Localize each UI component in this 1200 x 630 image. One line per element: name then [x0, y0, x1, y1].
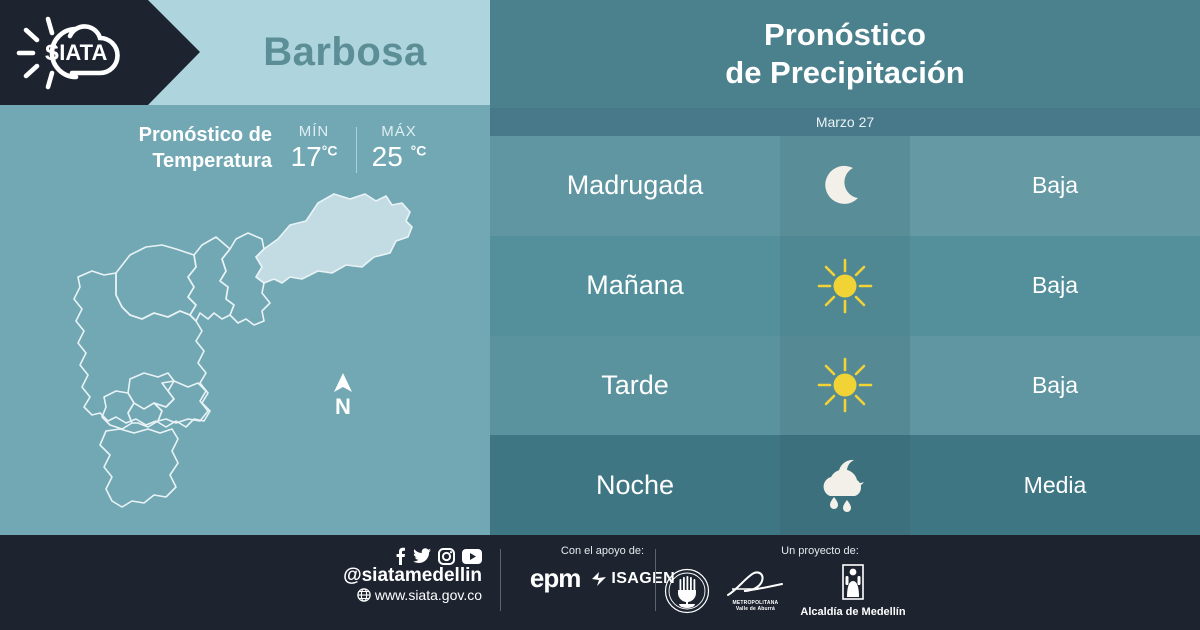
forecast-table: Madrugada Baja Mañana — [490, 136, 1200, 535]
valley-map: N — [50, 183, 450, 528]
precipitation-level: Baja — [910, 336, 1200, 436]
isagen-mark-icon — [590, 571, 608, 587]
temperature-divider — [356, 127, 357, 173]
map-panel: Pronóstico de Temperatura MÍN 17°C MÁX 2… — [0, 105, 490, 535]
map-region-caldas — [100, 429, 178, 507]
left-header: SIATA Barbosa — [0, 0, 490, 105]
forecast-title-line2: de Precipitación — [725, 55, 964, 90]
sun-icon — [816, 356, 874, 414]
forecast-header: Pronóstico de Precipitación — [490, 0, 1200, 108]
amva-logo: METROPOLITANA Valle de Aburrá — [724, 569, 786, 613]
left-panel: SIATA Barbosa Pronóstico de Temperatura … — [0, 0, 490, 535]
epm-logo: epm — [530, 563, 580, 594]
footer: @siatamedellin www.siata.gov.co Con el a… — [0, 535, 1200, 630]
north-label: N — [328, 396, 358, 418]
temperature-title: Pronóstico de Temperatura — [82, 123, 272, 174]
precipitation-level: Baja — [910, 136, 1200, 236]
map-region-copacabana — [188, 237, 234, 321]
city-name: Barbosa — [200, 0, 490, 105]
period-label: Mañana — [490, 236, 780, 336]
udea-seal-icon — [664, 568, 710, 614]
social-icons — [330, 547, 482, 565]
precipitation-panel: Pronóstico de Precipitación Marzo 27 Mad… — [490, 0, 1200, 535]
north-arrow-icon — [332, 373, 354, 393]
temperature-max-label: MÁX — [381, 123, 417, 140]
table-row: Tarde — [490, 336, 1200, 436]
period-label: Madrugada — [490, 136, 780, 236]
precipitation-level: Media — [910, 435, 1200, 535]
website-url: www.siata.gov.co — [375, 587, 482, 603]
alcaldia-mark-icon — [838, 563, 868, 603]
temperature-title-line2: Temperatura — [152, 150, 272, 172]
footer-divider — [500, 549, 501, 611]
temperature-min-label: MÍN — [299, 123, 330, 140]
moon-rain-cloud-icon — [814, 456, 876, 514]
project-caption: Un proyecto de: — [730, 545, 910, 557]
map-region-barbosa — [256, 194, 412, 283]
north-indicator: N — [328, 373, 358, 418]
max-number: 25 — [372, 141, 403, 172]
weather-icon-cell — [780, 136, 910, 236]
max-unit: °C — [411, 143, 427, 159]
amva-caption-2: Valle de Aburrá — [736, 607, 775, 613]
table-row: Madrugada Baja — [490, 136, 1200, 236]
precipitation-level: Baja — [910, 236, 1200, 336]
twitter-icon[interactable] — [413, 548, 431, 564]
globe-icon — [357, 588, 371, 602]
forecast-title-line1: Pronóstico — [764, 17, 926, 52]
social-handle[interactable]: @siatamedellin — [330, 566, 482, 587]
alcaldia-label: Alcaldía de Medellín — [800, 606, 905, 618]
map-region-bello — [116, 245, 196, 319]
temperature-values: MÍN 17°C MÁX 25 °C — [278, 123, 435, 173]
map-region-envigado — [154, 381, 208, 423]
siata-logo-text: SIATA — [45, 40, 108, 65]
footer-divider-2 — [655, 549, 656, 611]
forecast-title: Pronóstico de Precipitación — [725, 16, 964, 92]
siata-logo-banner: SIATA — [0, 0, 200, 105]
alcaldia-logo: Alcaldía de Medellín — [800, 563, 905, 618]
moon-icon — [819, 160, 871, 212]
temperature-title-line1: Pronóstico de — [139, 124, 272, 146]
project-logos: METROPOLITANA Valle de Aburrá Alcaldía d… — [660, 563, 910, 618]
temperature-max-value: 25 °C — [372, 141, 427, 173]
sun-cloud-icon: SIATA — [14, 16, 142, 90]
infographic-root: SIATA Barbosa Pronóstico de Temperatura … — [0, 0, 1200, 630]
period-label: Tarde — [490, 336, 780, 436]
map-svg — [50, 183, 450, 528]
weather-icon-cell — [780, 236, 910, 336]
period-label: Noche — [490, 435, 780, 535]
facebook-icon[interactable] — [395, 547, 406, 565]
sun-icon — [816, 257, 874, 315]
temperature-max: MÁX 25 °C — [363, 123, 435, 173]
amva-mark-icon — [724, 569, 786, 601]
min-number: 17 — [291, 141, 322, 172]
temperature-min: MÍN 17°C — [278, 123, 350, 173]
youtube-icon[interactable] — [462, 549, 482, 564]
instagram-icon[interactable] — [438, 548, 455, 565]
table-row: Noche Media — [490, 435, 1200, 535]
website-row[interactable]: www.siata.gov.co — [330, 587, 482, 603]
social-block: @siatamedellin www.siata.gov.co — [330, 547, 482, 603]
project-block: Un proyecto de: — [660, 545, 910, 618]
min-unit: °C — [322, 143, 338, 159]
table-row: Mañana — [490, 236, 1200, 336]
weather-icon-cell — [780, 435, 910, 535]
forecast-date: Marzo 27 — [490, 108, 1200, 136]
temperature-min-value: 17°C — [291, 141, 338, 173]
weather-icon-cell — [780, 336, 910, 436]
